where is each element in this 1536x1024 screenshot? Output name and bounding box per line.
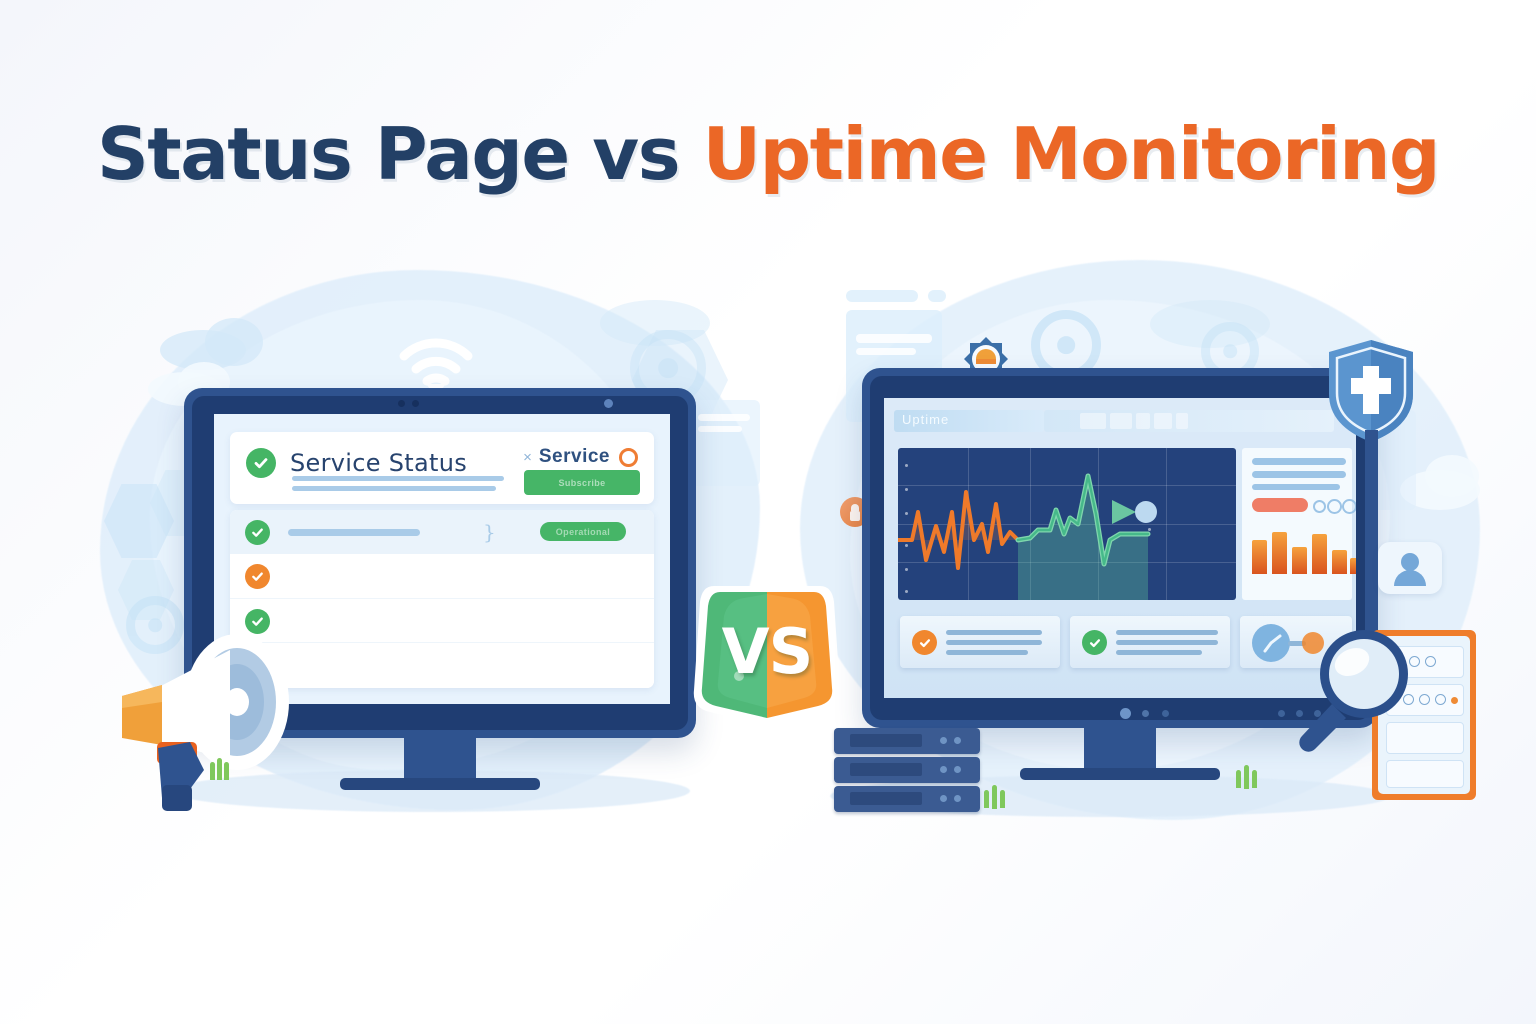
brand-logo: × Service xyxy=(523,446,638,468)
monitor-neck-right xyxy=(1084,728,1156,772)
topbar-cell xyxy=(1136,413,1150,429)
rack-led xyxy=(1451,697,1458,704)
shield-pole xyxy=(1365,430,1378,640)
placeholder-line xyxy=(292,476,504,481)
document-line xyxy=(856,348,916,355)
server-unit xyxy=(834,786,980,812)
bar-chart-bar xyxy=(1252,540,1267,574)
topbar-cell xyxy=(1080,413,1106,429)
status-ring xyxy=(1342,499,1356,514)
service-name-placeholder xyxy=(288,529,420,536)
bar-chart-bar xyxy=(1272,532,1287,574)
check-circle-icon xyxy=(245,520,270,545)
page-title-primary: Status Page vs xyxy=(97,112,703,196)
widget-line xyxy=(1116,640,1218,645)
close-icon: × xyxy=(523,449,532,466)
cloud-decoration xyxy=(1425,455,1479,497)
response-time-chart xyxy=(898,448,1236,600)
service-status-card: Service Status × Service Subscribe xyxy=(230,432,654,504)
camera-dot xyxy=(412,400,419,407)
monitor-neck-left xyxy=(404,738,476,782)
gauge-icon xyxy=(1252,624,1290,662)
bar-chart-bar xyxy=(1292,547,1307,574)
document-decoration xyxy=(846,290,918,302)
cloud-decoration xyxy=(205,318,263,366)
widget-line xyxy=(946,630,1042,635)
server-unit xyxy=(834,757,980,783)
document-line xyxy=(698,414,750,421)
monitor-base-left xyxy=(340,778,540,790)
service-status-title: Service Status xyxy=(290,449,467,477)
uptime-dashboard-screen: Uptime xyxy=(884,398,1356,698)
camera-dot xyxy=(1142,710,1149,717)
topbar-cell xyxy=(1154,413,1172,429)
subscribe-button-label: Subscribe xyxy=(558,478,605,488)
check-circle-icon xyxy=(912,630,937,655)
document-line xyxy=(698,426,742,432)
bar-chart-bar xyxy=(1312,534,1327,574)
play-cursor-icon xyxy=(1112,500,1136,524)
vs-badge-label: VS xyxy=(684,572,850,730)
chart-series-svg xyxy=(898,448,1236,600)
check-circle-icon xyxy=(246,448,276,478)
check-circle-icon xyxy=(245,564,270,589)
widget-line xyxy=(946,640,1042,645)
server-unit xyxy=(834,728,980,754)
magnifier-icon xyxy=(1288,612,1428,752)
table-row[interactable]: } Operational xyxy=(230,554,654,598)
subscribe-button[interactable]: Subscribe xyxy=(524,470,640,495)
side-panel-line xyxy=(1252,458,1346,465)
document-decoration xyxy=(928,290,946,302)
placeholder-line xyxy=(292,486,496,491)
widget-line xyxy=(946,650,1028,655)
dashboard-topbar-label: Uptime xyxy=(902,412,949,427)
brace-decoration: } xyxy=(483,520,496,544)
brand-mark-icon xyxy=(619,448,638,467)
topbar-cell xyxy=(1176,413,1188,429)
topbar-cell xyxy=(1110,413,1132,429)
brand-name: Service xyxy=(539,446,610,468)
vs-badge: VS xyxy=(684,572,850,730)
monitor-base-right xyxy=(1020,768,1220,780)
page-title-accent: Uptime Monitoring xyxy=(703,112,1439,196)
camera-dot xyxy=(1162,710,1169,717)
table-row[interactable]: } Operational xyxy=(230,510,654,554)
alert-pill xyxy=(1252,498,1308,512)
camera-dot xyxy=(1120,708,1131,719)
side-panel-line xyxy=(1252,484,1340,490)
camera-dot xyxy=(604,399,613,408)
check-circle-icon xyxy=(1082,630,1107,655)
status-ring xyxy=(1313,500,1326,513)
widget-line xyxy=(1116,630,1218,635)
rack-slot xyxy=(1386,760,1464,788)
status-badge: Operational xyxy=(540,522,626,541)
user-avatar-icon xyxy=(1378,542,1442,594)
shield-plus-icon xyxy=(1325,338,1417,444)
side-panel-line xyxy=(1252,471,1346,478)
camera-dot xyxy=(1278,710,1285,717)
megaphone-icon xyxy=(62,630,312,820)
document-decoration xyxy=(690,400,760,486)
document-line xyxy=(856,334,932,343)
bar-chart-bar xyxy=(1332,550,1347,574)
status-badge-label: Operational xyxy=(556,527,610,537)
widget-line xyxy=(1116,650,1202,655)
page-title-wrap: Status Page vs Uptime Monitoring xyxy=(0,118,1536,190)
status-ring xyxy=(1327,499,1342,514)
bar-chart-bar xyxy=(1350,558,1356,574)
camera-dot xyxy=(398,400,405,407)
illustration-canvas: Status Page vs Uptime Monitoring Service… xyxy=(0,0,1536,1024)
